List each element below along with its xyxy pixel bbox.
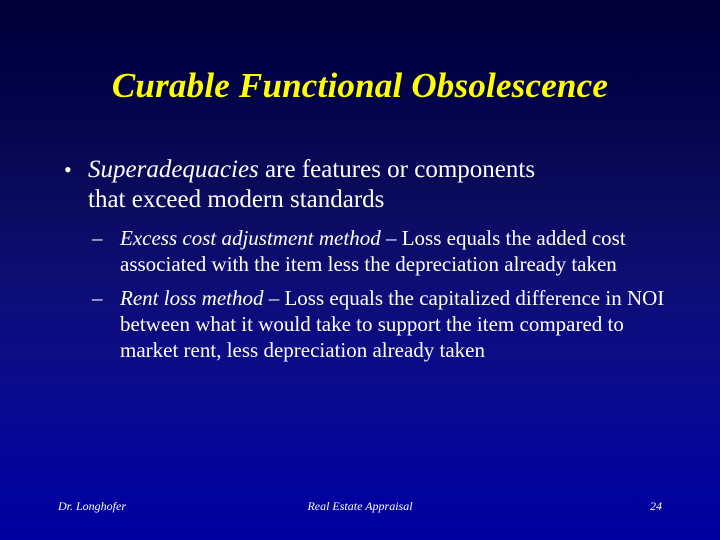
bullet-marker-icon: •	[64, 155, 72, 185]
bullet-text: Excess cost adjustment method – Loss equ…	[120, 225, 670, 277]
bullet-emphasis-term: Excess cost adjustment method	[120, 226, 381, 250]
bullet-item-level2: – Excess cost adjustment method – Loss e…	[60, 225, 670, 277]
page-title: Curable Functional Obsolescence	[112, 66, 608, 106]
slide-body: • Superadequacies are features or compon…	[60, 155, 670, 363]
bullet-item-level2: – Rent loss method – Loss equals the cap…	[60, 285, 670, 363]
presentation-slide: Curable Functional Obsolescence • Supera…	[0, 0, 720, 540]
slide-title-area: Curable Functional Obsolescence	[0, 66, 720, 106]
bullet-item-level1: • Superadequacies are features or compon…	[60, 155, 670, 215]
dash-marker-icon: –	[92, 285, 103, 311]
bullet-text: Superadequacies are features or componen…	[88, 155, 558, 215]
bullet-text: Rent loss method – Loss equals the capit…	[120, 285, 670, 363]
bullet-emphasis-term: Rent loss method	[120, 286, 263, 310]
bullet-emphasis-term: Superadequacies	[88, 156, 259, 183]
footer-course-title: Real Estate Appraisal	[58, 498, 662, 514]
slide-footer: Dr. Longhofer Real Estate Appraisal 24	[58, 496, 662, 516]
footer-page-number: 24	[650, 498, 662, 514]
footer-author: Dr. Longhofer	[58, 498, 126, 514]
dash-marker-icon: –	[92, 225, 103, 251]
